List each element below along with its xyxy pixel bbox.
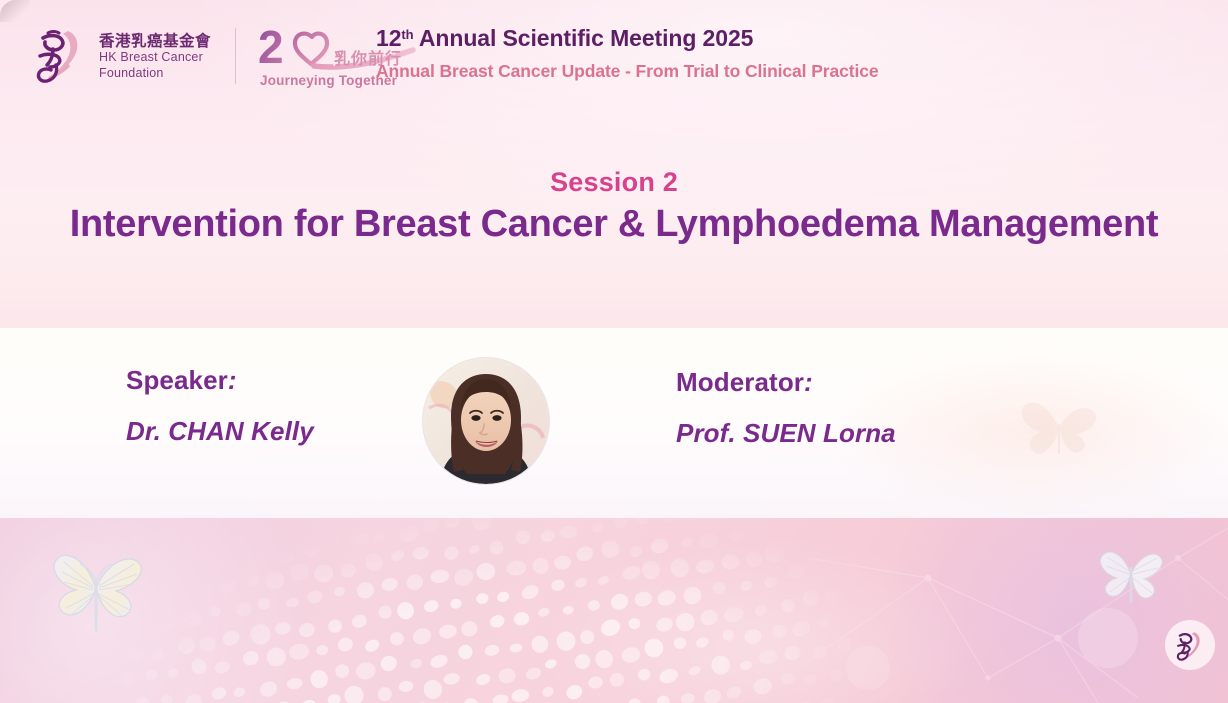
speaker-role-text: Speaker (126, 365, 228, 395)
logo-divider (235, 28, 236, 84)
butterfly-watermark-icon (1012, 384, 1108, 466)
meeting-title-number: 12 (376, 25, 401, 51)
meeting-heading-block: 12th Annual Scientific Meeting 2025 Annu… (376, 25, 996, 82)
footer-logo-badge (1165, 620, 1215, 670)
speaker-name: Dr. CHAN Kelly (126, 416, 426, 447)
presentation-slide: 香港乳癌基金會 HK Breast Cancer Foundation (0, 0, 1228, 703)
moderator-block: Moderator: Prof. SUEN Lorna (676, 367, 1006, 449)
meeting-title-ordinal: th (401, 27, 413, 42)
speaker-role-label: Speaker: (126, 365, 426, 396)
moderator-role-label: Moderator: (676, 367, 1006, 398)
butterfly-left-icon (38, 538, 156, 642)
speaker-role-colon: : (228, 365, 237, 395)
logo-row: 香港乳癌基金會 HK Breast Cancer Foundation (30, 20, 426, 92)
hkbcf-wordmark: 香港乳癌基金會 HK Breast Cancer Foundation (99, 31, 211, 81)
svg-text:2: 2 (258, 23, 284, 73)
butterfly-right-icon (1090, 540, 1172, 610)
moderator-role-colon: : (804, 367, 813, 397)
speaker-block: Speaker: Dr. CHAN Kelly (126, 365, 426, 447)
session-label: Session 2 (0, 167, 1228, 198)
hkbcf-name-en-2: Foundation (99, 66, 211, 81)
decorative-footer-band (0, 518, 1228, 703)
hkbcf-badge-icon (1173, 628, 1207, 662)
meeting-subtitle: Annual Breast Cancer Update - From Trial… (376, 61, 996, 82)
corner-shade (0, 0, 30, 22)
session-title: Intervention for Breast Cancer & Lymphoe… (0, 203, 1228, 246)
hkbcf-name-en-1: HK Breast Cancer (99, 50, 211, 65)
moderator-name: Prof. SUEN Lorna (676, 418, 1006, 449)
hkbcf-logo: 香港乳癌基金會 HK Breast Cancer Foundation (30, 25, 211, 87)
speaker-photo (423, 358, 549, 484)
hkbcf-calligraphy-icon (30, 25, 90, 87)
hkbcf-name-cn: 香港乳癌基金會 (99, 33, 211, 50)
meeting-title-rest: Annual Scientific Meeting 2025 (413, 25, 753, 51)
meeting-title: 12th Annual Scientific Meeting 2025 (376, 25, 996, 53)
moderator-role-text: Moderator (676, 367, 804, 397)
